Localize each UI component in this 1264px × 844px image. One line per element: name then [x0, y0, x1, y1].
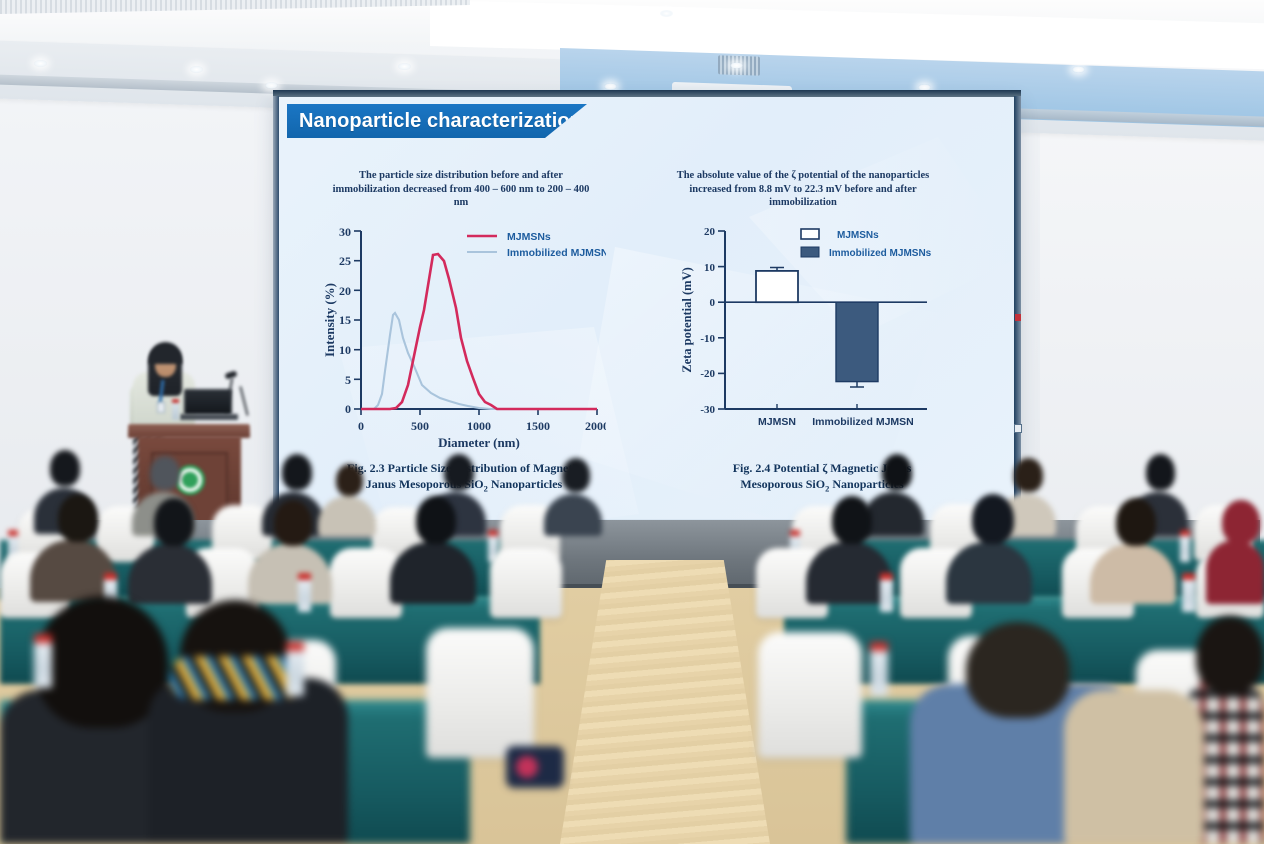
svg-text:2000: 2000	[585, 419, 606, 433]
attendee-head	[966, 622, 1070, 718]
downlight-icon	[190, 66, 203, 73]
downlight-icon	[604, 83, 617, 90]
left-column-header: The particle size distribution before an…	[327, 169, 595, 210]
svg-text:Immobilized MJMSNs: Immobilized MJMSNs	[829, 248, 932, 259]
water-bottle	[1180, 534, 1190, 562]
svg-text:25: 25	[339, 254, 351, 268]
svg-text:Intensity (%): Intensity (%)	[322, 283, 337, 357]
attendee-head	[972, 494, 1014, 544]
svg-text:-30: -30	[700, 404, 715, 416]
chair	[490, 548, 562, 618]
zeta-potential-svg: 20 10 0 -10 -20 -30 Zeta potential (mV)	[677, 219, 942, 451]
chart-zeta-potential: 20 10 0 -10 -20 -30 Zeta potential (mV)	[677, 219, 942, 451]
caption-line-2a: Mesoporous SiO	[740, 477, 825, 491]
svg-text:MJMSNs: MJMSNs	[837, 230, 879, 241]
podium-water-bottle	[172, 402, 179, 420]
bottle-cap	[104, 573, 117, 580]
attendee-head	[832, 496, 872, 544]
attendee-head	[882, 454, 912, 490]
attendee-head	[50, 450, 80, 486]
svg-text:1000: 1000	[467, 419, 491, 433]
slide-title-banner: Nanoparticle characterization	[287, 104, 587, 138]
attendee-head	[1146, 454, 1175, 490]
laptop-base	[180, 414, 238, 420]
attendee-head	[150, 456, 180, 490]
aisle-bag-accent	[516, 756, 538, 778]
water-bottle	[298, 578, 311, 612]
svg-text:MJMSN: MJMSN	[758, 416, 796, 428]
attendee-head	[274, 500, 312, 546]
svg-text:Immobilized MJMSN: Immobilized MJMSN	[812, 416, 914, 428]
presenter-badge	[157, 402, 165, 413]
bottle-cap	[790, 530, 800, 536]
attendee-scarf	[170, 656, 302, 700]
water-bottle	[870, 648, 888, 696]
attendee-head	[282, 454, 312, 490]
figure-caption-right: Fig. 2.4 Potential ζ Magnetic Janus Meso…	[677, 460, 967, 496]
svg-text:0: 0	[345, 402, 351, 416]
slide-title: Nanoparticle characterization	[287, 110, 582, 133]
screen-indicator-white	[1014, 424, 1022, 433]
downlight-icon	[1072, 66, 1085, 73]
water-bottle	[880, 578, 893, 612]
svg-text:0: 0	[358, 419, 364, 433]
screen-indicator-red	[1015, 314, 1021, 321]
particle-size-svg: 30 25 20 15 10 5 0 0 500 1000 1500 2000	[321, 219, 606, 451]
bottle-cap	[298, 573, 311, 580]
svg-text:500: 500	[411, 419, 429, 433]
downlight-icon	[398, 63, 411, 70]
downlight-icon	[265, 82, 278, 89]
bottle-cap	[286, 642, 304, 651]
attendee-head	[1222, 500, 1260, 544]
attendee-head	[1196, 616, 1264, 694]
laptop-screen[interactable]	[184, 389, 232, 415]
svg-text:15: 15	[339, 313, 351, 327]
svg-text:10: 10	[704, 262, 716, 274]
attendee-head	[1116, 498, 1156, 546]
bottle-cap	[880, 573, 893, 580]
svg-text:0: 0	[710, 297, 716, 309]
water-bottle	[1182, 578, 1195, 612]
right-column-header: The absolute value of the ζ potential of…	[669, 169, 937, 210]
downlight-icon	[730, 62, 743, 69]
chair	[758, 632, 862, 758]
svg-text:5: 5	[345, 373, 351, 387]
water-bottle	[34, 640, 52, 688]
svg-text:10: 10	[339, 343, 351, 357]
bottle-cap	[1180, 530, 1190, 536]
svg-text:-20: -20	[700, 368, 715, 380]
attendee-head	[444, 454, 474, 490]
svg-text:Immobilized MJMSNs: Immobilized MJMSNs	[507, 247, 606, 259]
attendee-shoulders	[1206, 540, 1264, 604]
svg-text:MJMSNs: MJMSNs	[507, 231, 551, 243]
downlight-icon	[34, 60, 47, 67]
bottle-cap	[1182, 573, 1195, 580]
attendee-shoulders	[1064, 690, 1204, 844]
bottle-cap	[8, 530, 18, 536]
screen-edge-right	[1014, 96, 1021, 520]
svg-text:20: 20	[339, 284, 351, 298]
conference-hall-scene: Nanoparticle characterization The partic…	[0, 0, 1264, 844]
downlight-icon	[660, 10, 673, 17]
svg-text:1500: 1500	[526, 419, 550, 433]
attendee-head	[58, 494, 98, 542]
attendee-head	[154, 498, 194, 546]
bottle-cap	[488, 530, 498, 536]
chart-particle-size-distribution: 30 25 20 15 10 5 0 0 500 1000 1500 2000	[321, 219, 606, 451]
attendee-head	[336, 464, 363, 496]
attendee-head	[416, 496, 456, 544]
svg-text:Diameter (nm): Diameter (nm)	[438, 435, 520, 450]
svg-text:20: 20	[704, 226, 716, 238]
svg-text:-10: -10	[700, 333, 715, 345]
svg-text:Zeta potential (mV): Zeta potential (mV)	[680, 267, 694, 373]
chair	[426, 628, 534, 758]
podium-bottle-cap	[172, 399, 179, 403]
attendee-head	[1014, 458, 1043, 492]
attendee-head	[562, 458, 590, 492]
caption-line-2b: Nanoparticles	[488, 477, 562, 491]
svg-text:30: 30	[339, 225, 351, 239]
institution-logo-center	[182, 472, 198, 488]
water-bottle	[286, 648, 304, 696]
bottle-cap	[34, 634, 52, 643]
screen-edge-top	[273, 90, 1021, 97]
bottle-cap	[870, 642, 888, 651]
